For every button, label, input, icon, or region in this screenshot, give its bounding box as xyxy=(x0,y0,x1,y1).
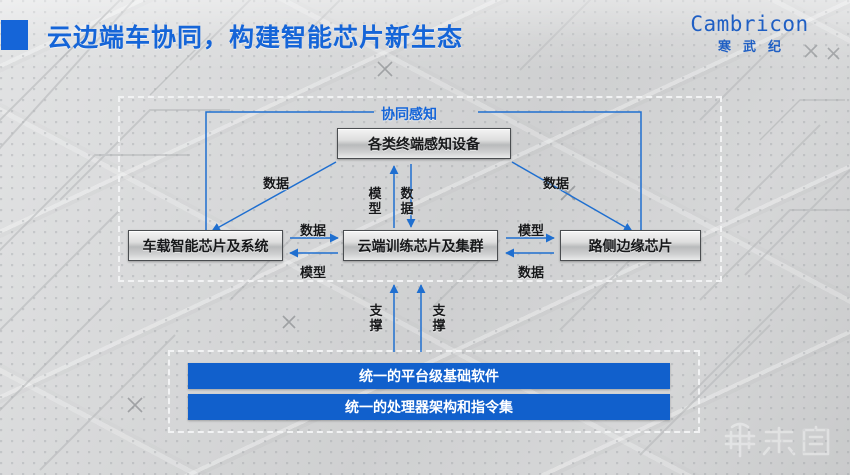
blue-square-marker xyxy=(1,20,28,50)
edge-label-support-left: 支撑 xyxy=(369,303,383,333)
logo-english-text: Cambricon xyxy=(677,14,822,35)
edge-label-sensor-to-vehicle: 数据 xyxy=(263,173,289,192)
node-sensor-devices[interactable]: 各类终端感知设备 xyxy=(337,128,511,159)
edge-label-sensor-to-road: 数据 xyxy=(543,173,569,192)
node-vehicle-chip[interactable]: 车载智能芯片及系统 xyxy=(128,230,283,261)
foundation-bar-platform[interactable]: 统一的平台级基础软件 xyxy=(188,363,670,389)
node-cloud-training[interactable]: 云端训练芯片及集群 xyxy=(343,230,498,261)
logo-chinese-text: 寒武纪 xyxy=(677,40,822,53)
foundation-bar-architecture[interactable]: 统一的处理器架构和指令集 xyxy=(188,394,670,420)
edge-label-support-right: 支撑 xyxy=(432,303,446,333)
edge-label-road-cloud-data: 数据 xyxy=(518,262,544,281)
cambricon-logo: Cambricon 寒武纪 xyxy=(677,14,822,53)
header-bar: 云边端车协同，构建智能芯片新生态 Cambricon 寒武纪 xyxy=(0,0,850,72)
edge-label-cloud-road-model: 模型 xyxy=(518,220,544,239)
chedongxi-watermark xyxy=(716,417,836,463)
edge-label-vehicle-cloud-model: 模型 xyxy=(300,262,326,281)
edge-label-cloud-to-sensor-model: 模型 xyxy=(368,186,382,216)
edge-label-vehicle-cloud-data: 数据 xyxy=(300,220,326,239)
node-roadside-edge[interactable]: 路侧边缘芯片 xyxy=(560,230,701,261)
edge-label-sensor-to-cloud-data: 数据 xyxy=(400,186,414,216)
coop-perception-label: 协同感知 xyxy=(381,104,437,124)
slide-canvas: 云边端车协同，构建智能芯片新生态 Cambricon 寒武纪 xyxy=(0,0,850,475)
page-title: 云边端车协同，构建智能芯片新生态 xyxy=(47,18,463,54)
